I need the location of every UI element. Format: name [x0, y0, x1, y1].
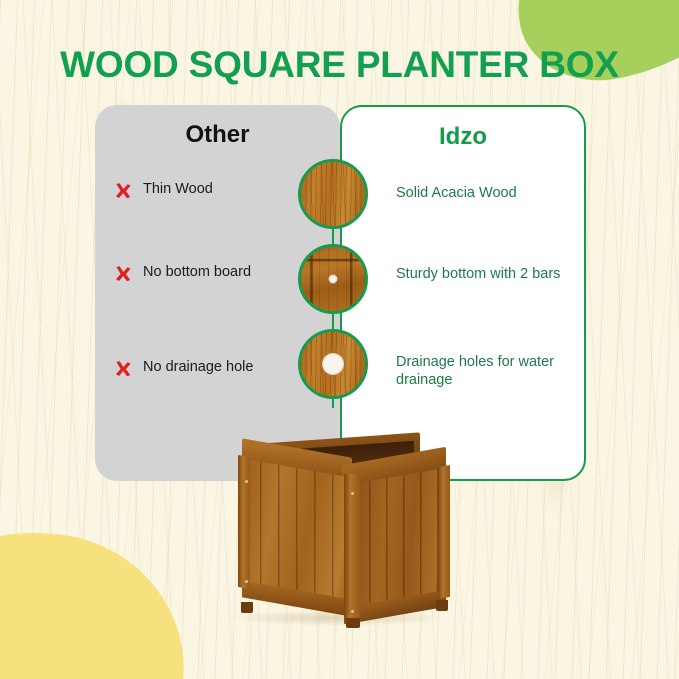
- planter-screw: [245, 480, 248, 483]
- planter-corner-post-left: [238, 455, 250, 589]
- comparison-panel-idzo: Idzo: [340, 105, 586, 481]
- comparison-row-idzo-label-2: Sturdy bottom with 2 bars: [396, 265, 581, 283]
- comparison-row-other-2: No bottom board: [113, 263, 313, 284]
- red-x-icon: [113, 359, 133, 379]
- wood-grain-circle: [298, 159, 368, 229]
- planter-foot: [436, 600, 448, 611]
- page-title: WOOD SQUARE PLANTER BOX: [0, 44, 679, 86]
- planter-corner-post-front: [344, 474, 360, 624]
- wood-texture: [301, 162, 365, 226]
- planter-corner-post-right: [438, 465, 450, 599]
- comparison-row-other-label-2: No bottom board: [143, 263, 251, 281]
- comparison-row-idzo-label-1: Solid Acacia Wood: [396, 184, 581, 202]
- comparison-row-other-label-1: Thin Wood: [143, 180, 213, 198]
- comparison-row-other-3: No drainage hole: [113, 358, 313, 379]
- planter-foot: [346, 618, 360, 628]
- planter-screw: [351, 492, 354, 495]
- wood-drainage-hole-circle: [298, 329, 368, 399]
- column-header-idzo: Idzo: [342, 123, 584, 151]
- small-drainage-hole: [329, 275, 338, 284]
- yellow-corner-blob: [0, 516, 199, 679]
- infographic-canvas: WOOD SQUARE PLANTER BOX Other Idzo Thin …: [0, 0, 679, 679]
- wood-bottom-board-circle: [298, 244, 368, 314]
- column-header-other: Other: [95, 121, 340, 149]
- planter-screw: [245, 580, 248, 583]
- large-drainage-hole: [322, 353, 344, 375]
- planter-screw: [351, 610, 354, 613]
- red-x-icon: [113, 264, 133, 284]
- red-x-icon: [113, 181, 133, 201]
- product-image-planter-box: [218, 432, 456, 628]
- comparison-row-idzo-label-3: Drainage holes for water drainage: [396, 353, 581, 389]
- planter-foot: [241, 602, 253, 613]
- comparison-row-other-label-3: No drainage hole: [143, 358, 253, 376]
- comparison-row-other-1: Thin Wood: [113, 180, 313, 201]
